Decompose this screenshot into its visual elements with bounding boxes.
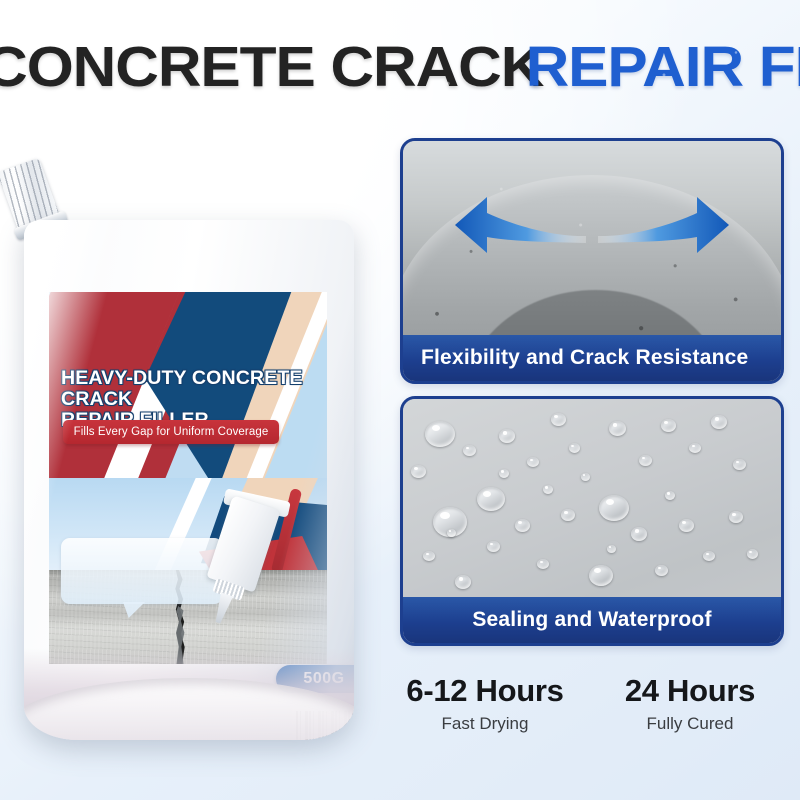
water-droplet (609, 421, 626, 436)
water-droplet (607, 545, 616, 553)
pouch-body: HEAVY-DUTY CONCRETE CRACK REPAIR FILLER … (24, 220, 354, 740)
water-droplet (537, 559, 549, 569)
water-droplet (599, 495, 629, 521)
stat-value: 24 Hours (595, 672, 785, 710)
product-pouch: HEAVY-DUTY CONCRETE CRACK REPAIR FILLER … (6, 150, 366, 760)
panel-caption-flexibility: Flexibility and Crack Resistance (403, 335, 781, 381)
water-droplet (543, 485, 553, 494)
stat-value: 6-12 Hours (390, 672, 580, 710)
water-droplet (589, 565, 613, 586)
water-droplet (515, 519, 530, 532)
water-droplet (655, 565, 668, 576)
water-droplet (477, 487, 505, 511)
product-marketing-poster: CONCRETE CRACKREPAIR FILLER (0, 0, 800, 800)
panel-caption-waterproof: Sealing and Waterproof (403, 597, 781, 643)
water-droplet (499, 469, 509, 478)
stat-label: Fully Cured (595, 710, 785, 738)
water-droplet (487, 541, 500, 552)
water-droplet (411, 465, 426, 478)
water-droplet (679, 519, 694, 532)
water-droplet (447, 529, 456, 537)
feature-panel-waterproof: Sealing and Waterproof (400, 396, 784, 646)
headline-part-2: REPAIR FILLER (525, 34, 800, 100)
stat-label: Fast Drying (390, 710, 580, 738)
feature-panel-flexibility: Flexibility and Crack Resistance (400, 138, 784, 384)
stat-fully-cured: 24 Hours Fully Cured (595, 672, 785, 738)
water-droplet (689, 443, 701, 453)
water-droplet (729, 511, 743, 523)
water-droplet (527, 457, 539, 467)
water-droplet (747, 549, 758, 559)
headline-part-1: CONCRETE CRACK (0, 34, 543, 100)
water-droplet (661, 419, 676, 432)
water-droplet (455, 575, 471, 589)
stat-fast-drying: 6-12 Hours Fast Drying (390, 672, 580, 738)
water-droplet (569, 443, 580, 453)
water-droplet (733, 459, 746, 470)
water-droplet (703, 551, 715, 561)
water-droplet (463, 445, 476, 456)
water-droplet (551, 413, 566, 426)
water-droplet (581, 473, 590, 481)
water-droplet (631, 527, 647, 541)
water-droplet (423, 551, 435, 561)
water-droplet (639, 455, 652, 466)
cure-time-stats: 6-12 Hours Fast Drying 24 Hours Fully Cu… (390, 672, 790, 764)
page-title: CONCRETE CRACKREPAIR FILLER (0, 34, 800, 100)
water-droplet (665, 491, 675, 500)
water-droplet (499, 429, 515, 443)
water-droplet (425, 421, 455, 447)
water-droplet (561, 509, 575, 521)
water-droplet (711, 415, 727, 429)
